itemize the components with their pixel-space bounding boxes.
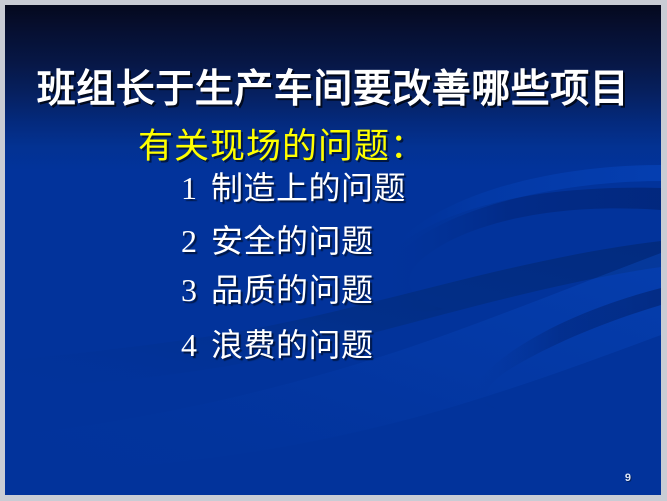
- list-item: 1制造上的问题: [5, 172, 661, 204]
- list-item: 3品质的问题: [5, 274, 661, 306]
- list-item-number: 4: [181, 329, 211, 361]
- list-item-number: 1: [181, 172, 211, 204]
- list-item: 2安全的问题: [5, 225, 661, 257]
- list-item-text: 品质的问题: [211, 272, 374, 308]
- page-number: 9: [625, 472, 631, 484]
- slide-body: 有关现场的问题： 1制造上的问题 2安全的问题 3品质的问题 4浪费的问题: [5, 126, 661, 361]
- list-item-text: 浪费的问题: [211, 327, 374, 363]
- slide-frame: 班组长于生产车间要改善哪些项目 有关现场的问题： 1制造上的问题 2安全的问题 …: [0, 0, 667, 501]
- section-heading: 有关现场的问题：: [5, 126, 661, 167]
- list-item: 4浪费的问题: [5, 329, 661, 361]
- slide-canvas: 班组长于生产车间要改善哪些项目 有关现场的问题： 1制造上的问题 2安全的问题 …: [5, 5, 661, 495]
- list-item-number: 2: [181, 225, 211, 257]
- list-item-text: 制造上的问题: [211, 170, 406, 206]
- bullet-list: 1制造上的问题 2安全的问题 3品质的问题 4浪费的问题: [5, 172, 661, 361]
- slide-title: 班组长于生产车间要改善哪些项目: [5, 69, 661, 112]
- list-item-number: 3: [181, 274, 211, 306]
- list-item-text: 安全的问题: [211, 223, 374, 259]
